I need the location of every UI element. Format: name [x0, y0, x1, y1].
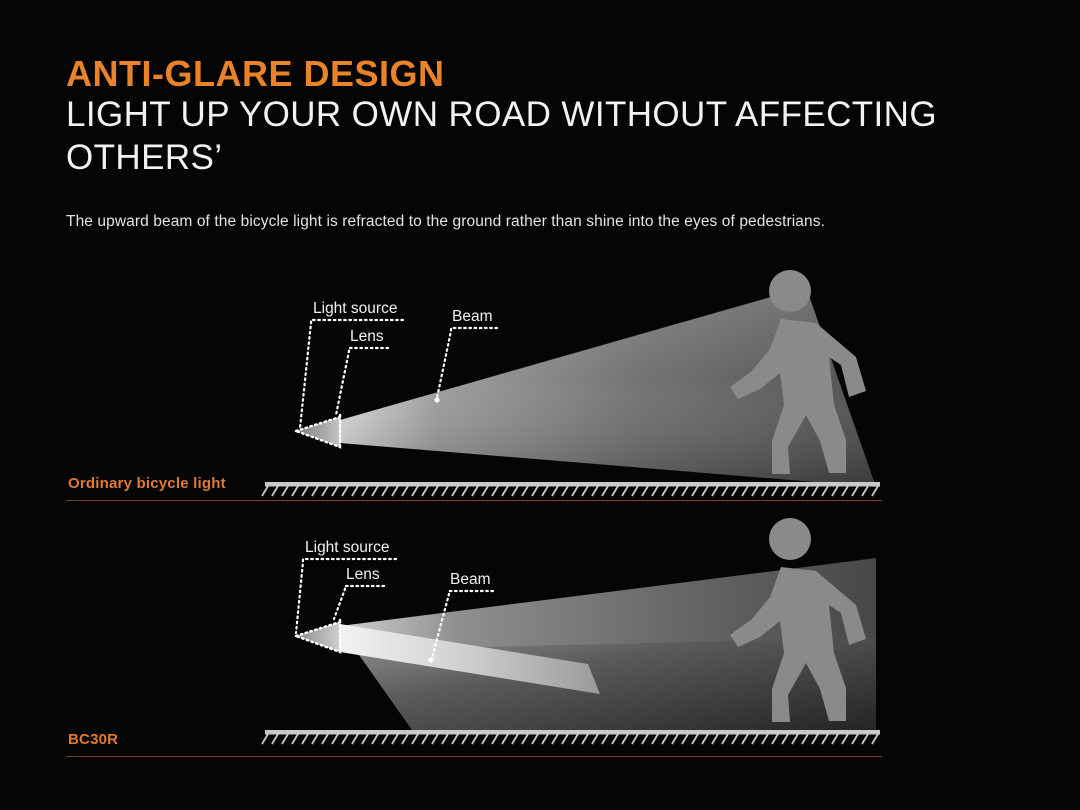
callout-label-light-source: Light source [313, 300, 397, 317]
callout-lens [334, 586, 384, 619]
callout-label-beam: Beam [452, 308, 493, 325]
row-caption-bc30r: BC30R [68, 731, 118, 748]
callout-label-light-source: Light source [305, 539, 389, 556]
page-subtitle: LIGHT UP YOUR OWN ROAD WITHOUT AFFECTING… [66, 94, 1026, 179]
light-source-shape [296, 417, 340, 447]
ground-line [262, 482, 880, 496]
light-source-shape [296, 622, 340, 652]
row-caption-ordinary: Ordinary bicycle light [68, 475, 226, 492]
callout-label-lens: Lens [350, 328, 384, 345]
header-block: ANTI-GLARE DESIGN LIGHT UP YOUR OWN ROAD… [66, 55, 1026, 180]
callout-label-beam: Beam [450, 571, 491, 588]
ground-line [262, 730, 880, 744]
row-divider-bottom [66, 756, 882, 757]
page-description: The upward beam of the bicycle light is … [66, 213, 966, 231]
callout-lens [336, 348, 388, 415]
row-divider-top [66, 500, 882, 501]
slide-root: ANTI-GLARE DESIGN LIGHT UP YOUR OWN ROAD… [0, 0, 1080, 810]
callout-label-lens: Lens [346, 566, 380, 583]
diagram-bc30r: Light source Lens Beam [0, 518, 1080, 768]
page-title: ANTI-GLARE DESIGN [66, 55, 1026, 92]
